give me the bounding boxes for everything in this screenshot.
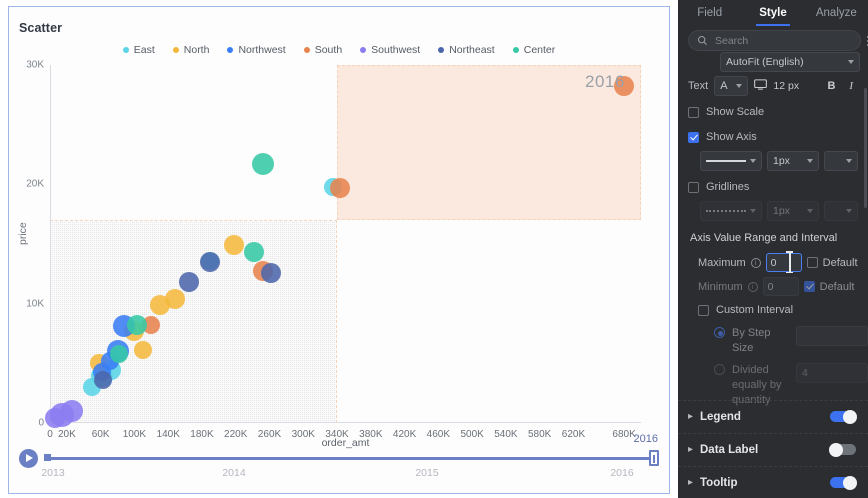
axis-line-color-select[interactable] (824, 151, 858, 171)
legend-item-label: Center (524, 44, 556, 56)
chevron-right-icon: ▸ (688, 411, 700, 422)
x-axis-line (50, 422, 641, 423)
dotted-line-icon (706, 210, 746, 212)
legend-item-northwest[interactable]: Northwest (227, 44, 285, 56)
divided-equally-radio[interactable] (714, 364, 725, 375)
y-axis-label: price (17, 222, 29, 245)
y-axis-tick: 30K (26, 60, 44, 71)
search-icon (697, 35, 708, 46)
axis-line-width-select[interactable]: 1px (767, 151, 819, 171)
gridline-width-value: 1px (773, 205, 790, 217)
accordion-data-label-label: Data Label (700, 444, 758, 456)
minimum-input (763, 277, 799, 296)
tab-field[interactable]: Field (678, 0, 741, 26)
legend-item-east[interactable]: East (123, 44, 155, 56)
legend-item-southwest[interactable]: Southwest (360, 44, 420, 56)
legend-color-dot (227, 47, 233, 53)
custom-interval-label: Custom Interval (716, 304, 793, 316)
show-axis-label: Show Axis (706, 131, 757, 143)
legend-item-label: Northeast (449, 44, 495, 56)
timeline-start-handle[interactable] (44, 454, 51, 461)
legend-item-south[interactable]: South (304, 44, 342, 56)
legend-color-dot (438, 47, 444, 53)
legend-item-label: East (134, 44, 155, 56)
scatter-point[interactable] (200, 252, 220, 272)
maximum-default-label: Default (823, 257, 858, 269)
show-scale-label: Show Scale (706, 106, 764, 118)
plot-area[interactable]: 010K20K30K 020K60K100K140K180K220K260K30… (50, 65, 641, 423)
timeline-control[interactable]: 2016 2013201420152016 (9, 429, 670, 493)
search-input[interactable] (713, 34, 852, 48)
gridline-color-select[interactable] (824, 201, 858, 221)
minimum-default-label: Default (820, 281, 855, 293)
tab-analyze[interactable]: Analyze (805, 0, 868, 26)
timeline-tick: 2014 (222, 467, 245, 479)
timeline-tick: 2013 (41, 467, 64, 479)
gridlines-row: Gridlines (678, 181, 868, 193)
scatter-point[interactable] (224, 235, 244, 255)
custom-interval-checkbox[interactable] (698, 305, 709, 316)
legend-item-north[interactable]: North (173, 44, 210, 56)
legend-color-dot (123, 47, 129, 53)
timeline-current-value: 2016 (634, 433, 658, 445)
italic-button[interactable]: I (844, 80, 858, 92)
info-icon[interactable]: i (751, 258, 761, 268)
text-settings-row: Text A 12 px B I (678, 76, 868, 96)
solid-line-icon (706, 160, 746, 162)
y-axis-tick: 0 (38, 418, 44, 429)
by-step-label: By Step Size (732, 326, 789, 356)
axis-range-title: Axis Value Range and Interval (690, 232, 837, 244)
legend-item-label: South (315, 44, 342, 56)
legend-color-dot (360, 47, 366, 53)
custom-interval-row: Custom Interval (678, 304, 868, 316)
gridline-style-select[interactable] (700, 201, 762, 221)
gridline-style-row: 1px (678, 201, 868, 221)
info-icon[interactable]: i (748, 282, 758, 292)
font-size-value: 12 px (773, 80, 799, 92)
timeline-tick: 2016 (610, 467, 633, 479)
app-root: Scatter EastNorthNorthwestSouthSouthwest… (0, 0, 868, 498)
text-label: Text (688, 80, 708, 92)
chart-pane: Scatter EastNorthNorthwestSouthSouthwest… (0, 0, 678, 498)
show-axis-checkbox[interactable] (688, 132, 699, 143)
by-step-row: By Step Size (678, 326, 868, 356)
chart-title: Scatter (19, 21, 62, 35)
chart-legend: EastNorthNorthwestSouthSouthwestNortheas… (9, 44, 669, 56)
tooltip-toggle[interactable] (830, 477, 856, 488)
chevron-down-icon (848, 60, 854, 64)
chevron-down-icon (846, 159, 852, 163)
chevron-down-icon (750, 209, 756, 213)
by-step-input[interactable] (796, 326, 868, 346)
style-settings-panel: FieldStyleAnalyze AutoFit (English) (678, 0, 868, 498)
maximum-input[interactable] (766, 253, 802, 272)
panel-scroll-region: AutoFit (English) Text A 1 (678, 58, 868, 498)
font-family-select[interactable]: A (714, 76, 748, 96)
axis-style-row: 1px (678, 151, 868, 171)
y-axis-tick: 20K (26, 179, 44, 190)
legend-color-dot (304, 47, 310, 53)
autofit-row: AutoFit (English) (678, 52, 868, 72)
minimum-label: Minimum (698, 281, 743, 293)
by-step-radio[interactable] (714, 327, 725, 338)
plot-background (50, 65, 641, 423)
divided-equally-input (796, 363, 868, 383)
legend-color-dot (173, 47, 179, 53)
timeline-track[interactable] (46, 457, 656, 460)
chevron-right-icon: ▸ (688, 477, 700, 488)
scatter-chart-card: Scatter EastNorthNorthwestSouthSouthwest… (8, 6, 670, 494)
play-button[interactable] (19, 449, 38, 468)
scatter-point[interactable] (110, 345, 128, 363)
minimum-row: Minimum i Default (678, 277, 868, 296)
legend-color-dot (513, 47, 519, 53)
monitor-icon (754, 79, 767, 93)
timeline-end-handle[interactable] (649, 450, 659, 466)
maximum-label: Maximum (698, 257, 746, 269)
legend-toggle[interactable] (830, 411, 856, 422)
legend-item-label: Northwest (238, 44, 285, 56)
chevron-down-icon (807, 159, 813, 163)
accordion-data-label[interactable]: ▸ Data Label (678, 433, 868, 465)
legend-item-label: North (184, 44, 210, 56)
scatter-point[interactable] (45, 408, 65, 428)
scatter-point[interactable] (150, 295, 170, 315)
year-annotation: 2016 (585, 72, 625, 92)
font-size-select[interactable]: 12 px (773, 76, 818, 96)
font-family-value: A (720, 80, 727, 92)
search-box[interactable] (688, 30, 861, 51)
axis-line-style-select[interactable] (700, 151, 762, 171)
scatter-point[interactable] (252, 153, 274, 175)
tab-style[interactable]: Style (741, 0, 804, 26)
scatter-point[interactable] (94, 371, 112, 389)
chevron-down-icon (807, 209, 813, 213)
scatter-point[interactable] (261, 263, 281, 283)
chevron-right-icon: ▸ (688, 444, 700, 455)
panel-tab-bar[interactable]: FieldStyleAnalyze (678, 0, 868, 26)
axis-line-width-value: 1px (773, 155, 790, 167)
y-axis-line (50, 65, 51, 423)
data-label-toggle[interactable] (830, 444, 856, 455)
autofit-select[interactable]: AutoFit (English) (720, 52, 860, 72)
show-axis-row: Show Axis (678, 131, 868, 143)
accordion-tooltip[interactable]: ▸ Tooltip (678, 466, 868, 498)
chevron-down-icon (750, 159, 756, 163)
maximum-row: Maximum i Default (678, 253, 868, 272)
y-axis-tick: 10K (26, 298, 44, 309)
chevron-down-icon (846, 209, 852, 213)
timeline-tick: 2015 (415, 467, 438, 479)
minimum-default-checkbox[interactable] (804, 281, 815, 292)
legend-item-center[interactable]: Center (513, 44, 556, 56)
scatter-point[interactable] (134, 341, 152, 359)
maximum-default-checkbox[interactable] (807, 257, 818, 268)
accordion-tooltip-label: Tooltip (700, 477, 737, 489)
gridlines-checkbox[interactable] (688, 182, 699, 193)
scatter-point[interactable] (244, 242, 264, 262)
accordion-legend[interactable]: ▸ Legend (678, 400, 868, 432)
accordion-legend-label: Legend (700, 411, 741, 423)
show-scale-row: Show Scale (678, 106, 868, 118)
legend-item-northeast[interactable]: Northeast (438, 44, 495, 56)
scatter-point[interactable] (127, 315, 147, 335)
legend-item-label: Southwest (371, 44, 420, 56)
scatter-point[interactable] (330, 178, 350, 198)
scatter-point[interactable] (179, 272, 199, 292)
show-scale-checkbox[interactable] (688, 107, 699, 118)
gridline-width-select[interactable]: 1px (767, 201, 819, 221)
autofit-value: AutoFit (English) (726, 56, 804, 68)
chevron-down-icon (736, 84, 742, 88)
bold-button[interactable]: B (825, 80, 839, 92)
gridlines-label: Gridlines (706, 181, 749, 193)
